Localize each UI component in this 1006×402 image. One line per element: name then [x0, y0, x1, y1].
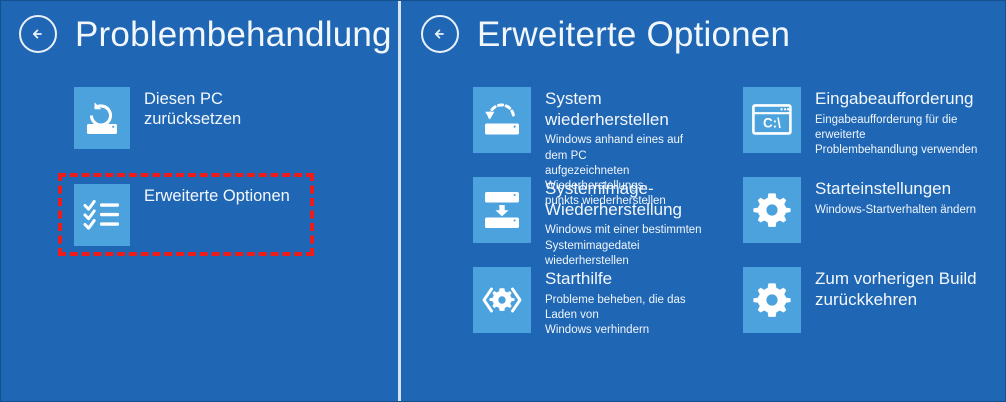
gear-icon — [743, 267, 801, 333]
tile-advanced-options[interactable]: Erweiterte Optionen — [74, 184, 324, 246]
gear-icon — [743, 177, 801, 243]
page-title: Problembehandlung — [75, 17, 392, 52]
tile-body: Systemimage- Wiederherstellung Windows m… — [545, 177, 703, 269]
tile-title: Erweiterte Optionen — [144, 186, 290, 206]
left-panel-header: Problembehandlung — [19, 15, 398, 53]
svg-text:C:\: C:\ — [763, 116, 781, 131]
tile-command-prompt[interactable]: C:\ Eingabeaufforderung Eingabeaufforder… — [743, 87, 978, 158]
system-restore-icon — [473, 87, 531, 153]
tile-title: Zum vorherigen Build zurückkehren — [815, 269, 977, 310]
windows-recovery-environment-screen: Problembehandlung Diesen PC zurücksetzen — [0, 0, 1006, 402]
right-panel-header: Erweiterte Optionen — [421, 15, 1005, 53]
page-title: Erweiterte Optionen — [477, 17, 790, 52]
tile-body: Diesen PC zurücksetzen — [144, 87, 241, 132]
tile-body: Starteinstellungen Windows-Startverhalte… — [815, 177, 976, 218]
tile-description: Probleme beheben, die das Laden von Wind… — [545, 293, 703, 339]
tile-system-image-recovery[interactable]: Systemimage- Wiederherstellung Windows m… — [473, 177, 703, 269]
command-prompt-icon: C:\ — [743, 87, 801, 153]
tile-title: System wiederherstellen — [545, 89, 703, 130]
tile-body: Zum vorherigen Build zurückkehren — [815, 267, 977, 313]
tile-description: Windows-Startverhalten ändern — [815, 203, 976, 218]
tile-title: Diesen PC zurücksetzen — [144, 89, 241, 129]
tile-startup-repair[interactable]: Starthilfe Probleme beheben, die das Lad… — [473, 267, 703, 338]
tile-title: Systemimage- Wiederherstellung — [545, 179, 703, 220]
tile-description: Windows mit einer bestimmten Systemimage… — [545, 223, 703, 269]
tile-title: Starthilfe — [545, 269, 703, 290]
startup-repair-icon — [473, 267, 531, 333]
tile-startup-settings[interactable]: Starteinstellungen Windows-Startverhalte… — [743, 177, 978, 243]
advanced-options-panel: Erweiterte Optionen System wiederherstel… — [401, 1, 1005, 401]
tile-title: Eingabeaufforderung — [815, 89, 978, 110]
system-image-recovery-icon — [473, 177, 531, 243]
tile-body: Erweiterte Optionen — [144, 184, 290, 209]
back-arrow-circle-icon[interactable] — [19, 15, 57, 53]
tile-reset-this-pc[interactable]: Diesen PC zurücksetzen — [74, 87, 344, 149]
pc-reset-icon — [74, 87, 130, 149]
tile-title: Starteinstellungen — [815, 179, 976, 200]
troubleshoot-panel: Problembehandlung Diesen PC zurücksetzen — [1, 1, 398, 401]
tile-go-back-to-previous-build[interactable]: Zum vorherigen Build zurückkehren — [743, 267, 978, 333]
checklist-icon — [74, 184, 130, 246]
tile-body: Starthilfe Probleme beheben, die das Lad… — [545, 267, 703, 338]
back-arrow-circle-icon[interactable] — [421, 15, 459, 53]
tile-body: Eingabeaufforderung Eingabeaufforderung … — [815, 87, 978, 158]
tile-description: Eingabeaufforderung für die erweiterte P… — [815, 113, 978, 159]
